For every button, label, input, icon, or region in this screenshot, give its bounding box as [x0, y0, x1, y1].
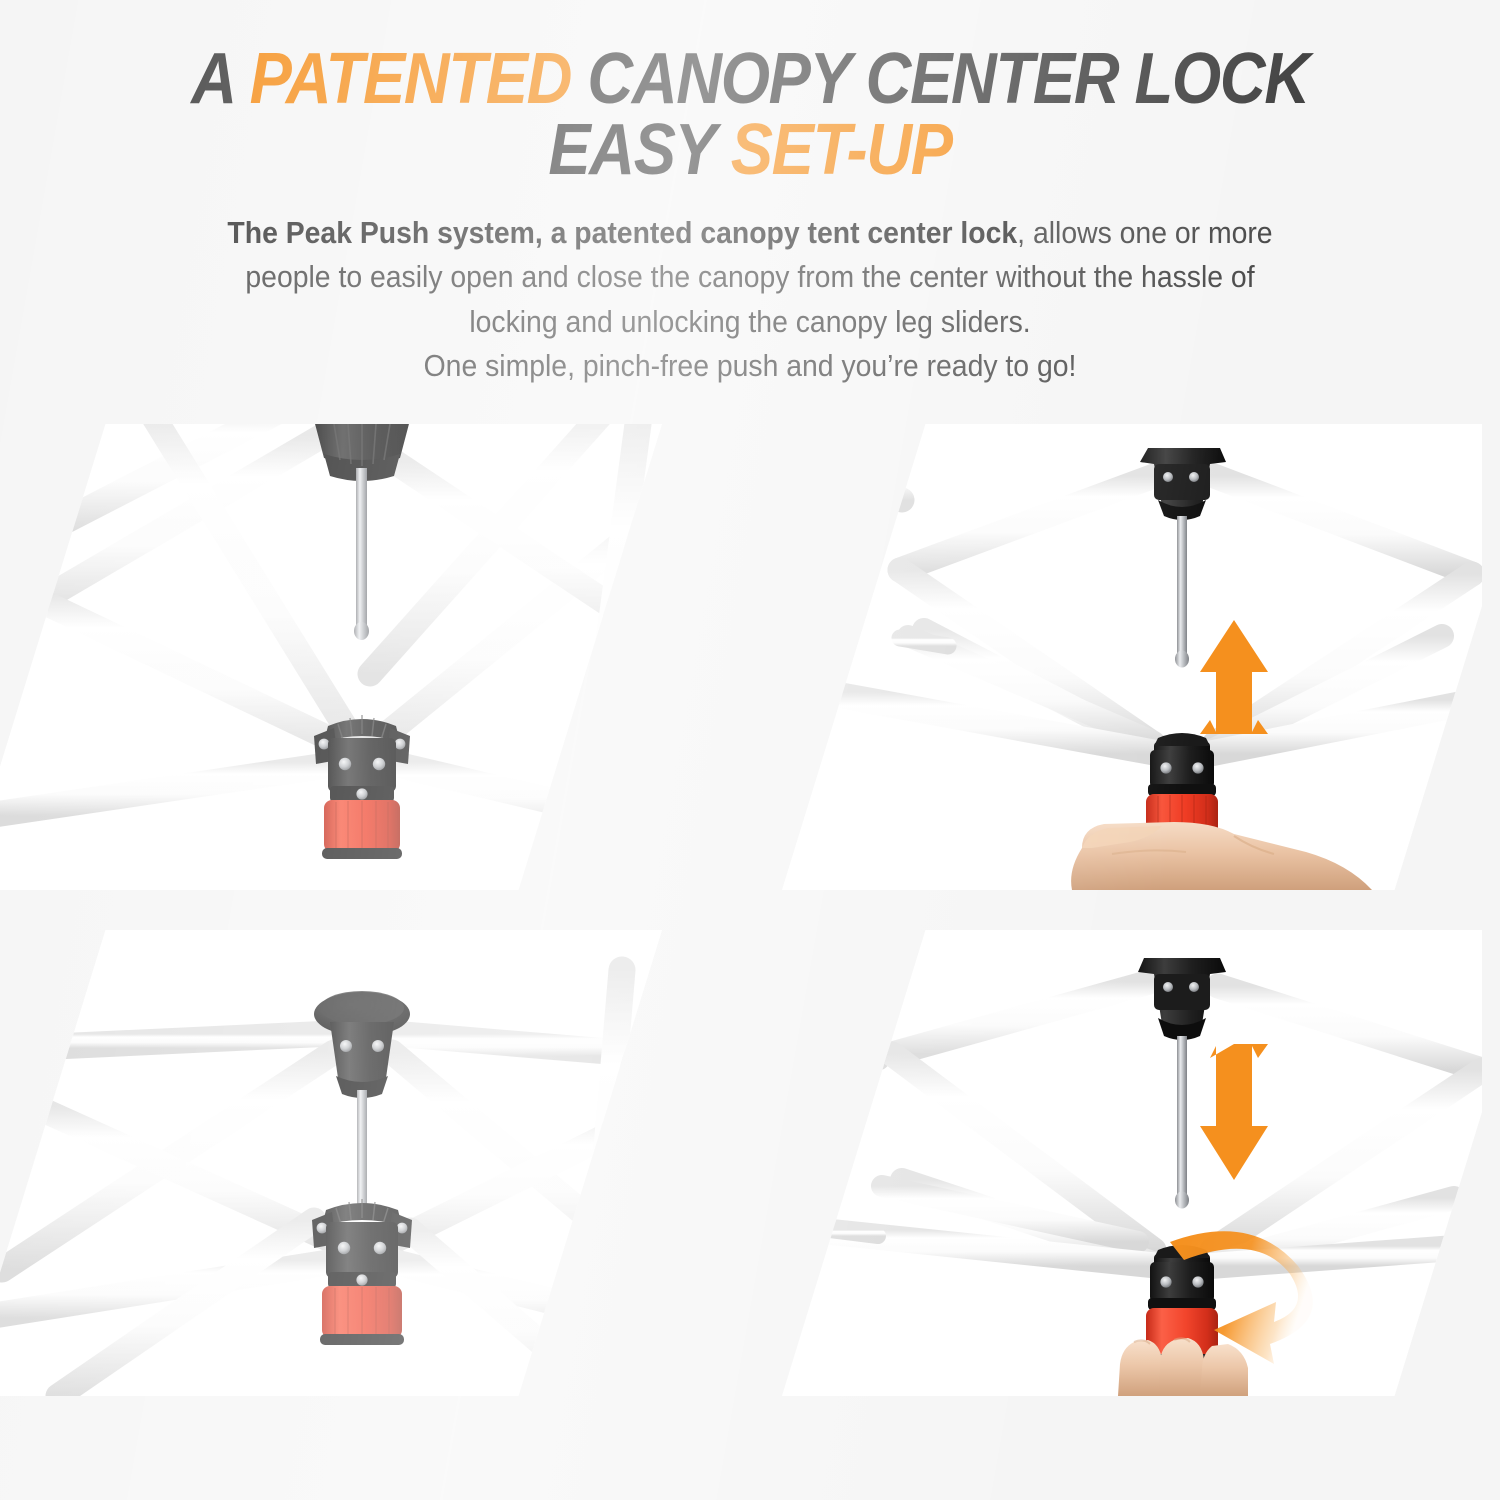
panel-twist-release[interactable]	[782, 930, 1482, 1396]
description-paragraph: The Peak Push system, a patented canopy …	[141, 211, 1359, 388]
description-line1-rest: , allows one or more	[1017, 216, 1272, 250]
panel-row-top	[0, 414, 1500, 914]
product-photo-grid	[0, 414, 1500, 1500]
headline-line1-accent: PATENTED	[250, 39, 572, 119]
center-push-rod-short	[357, 1090, 367, 1208]
headline-line1-part2: CANOPY CENTER LOCK	[571, 39, 1309, 119]
center-push-rod	[354, 468, 369, 640]
panel-row-bottom	[0, 920, 1500, 1420]
panel-push-up[interactable]	[782, 424, 1482, 890]
headline-line-1: A PATENTED CANOPY CENTER LOCK	[160, 44, 1339, 115]
center-push-rod	[1175, 516, 1189, 668]
headline-line-2: EASY SET-UP	[160, 115, 1339, 186]
two-finger-grip	[1118, 1338, 1248, 1396]
headline-line2-part1: EASY	[548, 110, 730, 190]
headline-line2-accent: SET-UP	[731, 110, 952, 190]
header-section: A PATENTED CANOPY CENTER LOCK EASY SET-U…	[0, 0, 1500, 388]
page-title: A PATENTED CANOPY CENTER LOCK EASY SET-U…	[160, 44, 1339, 185]
center-push-rod	[1175, 1036, 1189, 1209]
description-line-2: people to easily open and close the cano…	[141, 255, 1359, 299]
description-line-3: locking and unlocking the canopy leg sli…	[141, 300, 1359, 344]
panel-locked-closed[interactable]	[0, 930, 662, 1396]
description-line-4: One simple, pinch-free push and you’re r…	[141, 344, 1359, 388]
description-line-1: The Peak Push system, a patented canopy …	[141, 211, 1359, 255]
description-bold-lead: The Peak Push system, a patented canopy …	[227, 216, 1017, 250]
panel-unlocked-open[interactable]	[0, 424, 662, 890]
headline-line1-part1: A	[191, 39, 249, 119]
